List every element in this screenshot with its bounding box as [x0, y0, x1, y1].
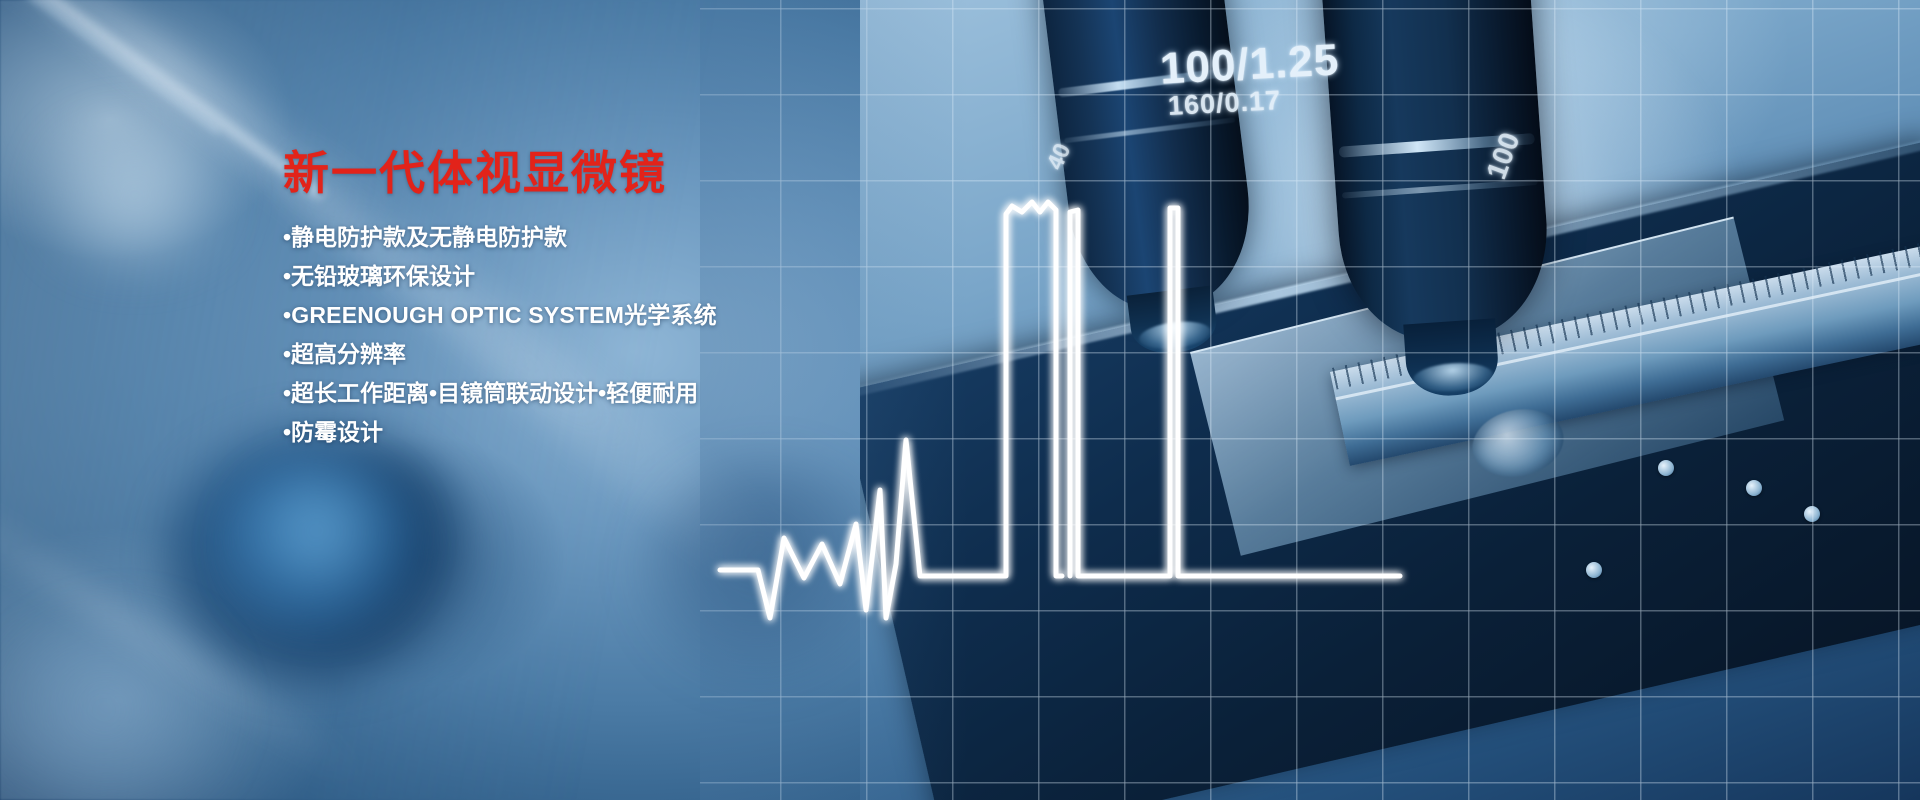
stage-screw [1586, 562, 1602, 578]
stage-screw [1804, 506, 1820, 522]
feature-list: •静电防护款及无静电防护款 •无铅玻璃环保设计 •GREENOUGH OPTIC… [283, 226, 883, 444]
lens-marking-tube-cover: 160/0.17 [1167, 85, 1282, 122]
copy-block: 新一代体视显微镜 •静电防护款及无静电防护款 •无铅玻璃环保设计 •GREENO… [283, 150, 883, 460]
list-item: •超长工作距离•目镜筒联动设计•轻便耐用 [283, 382, 883, 405]
bokeh-instrument-core [240, 470, 410, 620]
page-title: 新一代体视显微镜 [283, 150, 883, 196]
stage-screw [1658, 460, 1674, 476]
objective-ring [1064, 117, 1236, 143]
list-item: •超高分辨率 [283, 343, 883, 366]
product-banner: 100/1.25 160/0.17 100 40 新一代体视显微镜 •静电防护款… [0, 0, 1920, 800]
list-item: •无铅玻璃环保设计 [283, 265, 883, 288]
list-item: •GREENOUGH OPTIC SYSTEM光学系统 [283, 304, 883, 327]
list-item: •防霉设计 [283, 421, 883, 444]
microscope-photo: 100/1.25 160/0.17 100 40 [860, 0, 1920, 800]
list-item: •静电防护款及无静电防护款 [283, 226, 883, 249]
stage-screw [1746, 480, 1762, 496]
